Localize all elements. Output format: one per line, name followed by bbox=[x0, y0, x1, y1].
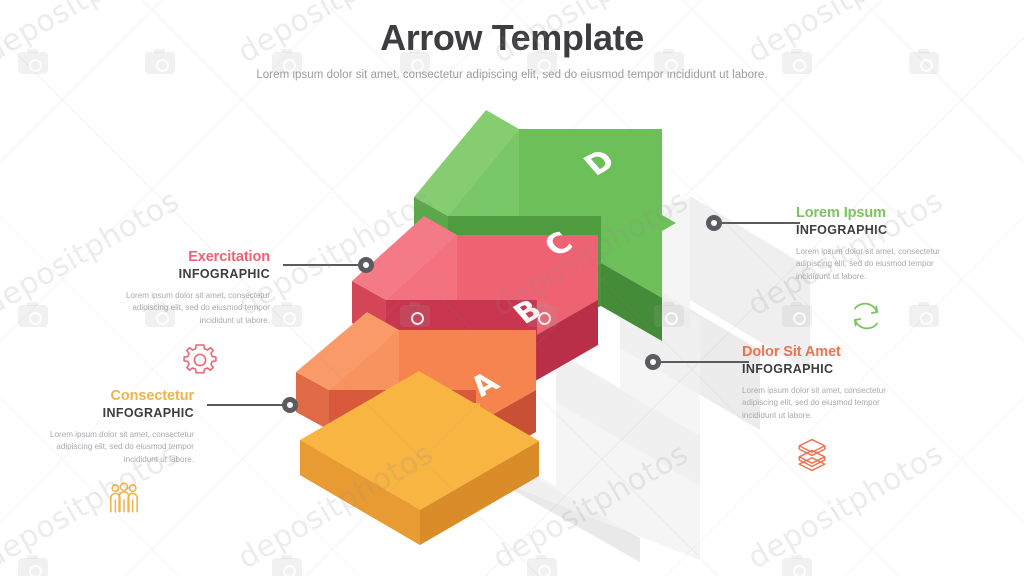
connector-line bbox=[661, 361, 749, 363]
callout-exercitation[interactable]: Exercitation INFOGRAPHIC Lorem ipsum dol… bbox=[40, 249, 270, 385]
callout-title: Consectetur bbox=[0, 388, 194, 405]
infographic-canvas: Arrow Template Lorem ipsum dolor sit ame… bbox=[0, 0, 1024, 576]
connector-consectetur bbox=[207, 396, 298, 414]
connector-exercitation bbox=[283, 256, 374, 274]
callout-title: Lorem Ipsum bbox=[796, 205, 1024, 222]
connector-dolor-sit-amet bbox=[645, 353, 749, 371]
connector-line bbox=[283, 264, 358, 266]
connector-marker[interactable] bbox=[282, 397, 298, 413]
callout-body: Lorem ipsum dolor sit amet, consectetur … bbox=[118, 290, 270, 328]
layers-stack-icon bbox=[790, 435, 834, 475]
people-group-icon bbox=[102, 479, 146, 519]
callout-subtitle: INFOGRAPHIC bbox=[796, 223, 1024, 237]
callout-title: Exercitation bbox=[40, 249, 270, 266]
connector-marker[interactable] bbox=[645, 354, 661, 370]
callout-subtitle: INFOGRAPHIC bbox=[40, 267, 270, 281]
callout-dolor-sit-amet[interactable]: Dolor Sit Amet INFOGRAPHIC Lorem ipsum d… bbox=[742, 344, 972, 480]
callout-subtitle: INFOGRAPHIC bbox=[742, 362, 972, 376]
connector-marker[interactable] bbox=[706, 215, 722, 231]
callout-body: Lorem ipsum dolor sit amet, consectetur … bbox=[742, 385, 894, 423]
callout-body: Lorem ipsum dolor sit amet, consectetur … bbox=[796, 246, 948, 284]
header: Arrow Template Lorem ipsum dolor sit ame… bbox=[0, 16, 1024, 81]
connector-line bbox=[722, 222, 800, 224]
callout-body: Lorem ipsum dolor sit amet, consectetur … bbox=[42, 429, 194, 467]
callout-subtitle: INFOGRAPHIC bbox=[0, 406, 194, 420]
connector-line bbox=[207, 404, 282, 406]
callout-title: Dolor Sit Amet bbox=[742, 344, 972, 361]
gear-icon bbox=[178, 340, 222, 380]
recycle-arrows-icon bbox=[844, 296, 888, 336]
page-title: Arrow Template bbox=[0, 16, 1024, 59]
page-subtitle: Lorem ipsum dolor sit amet, consectetur … bbox=[0, 69, 1024, 81]
connector-lorem-ipsum bbox=[706, 214, 800, 232]
callout-lorem-ipsum[interactable]: Lorem Ipsum INFOGRAPHIC Lorem ipsum dolo… bbox=[796, 205, 1024, 341]
connector-marker[interactable] bbox=[358, 257, 374, 273]
callout-consectetur[interactable]: Consectetur INFOGRAPHIC Lorem ipsum dolo… bbox=[0, 388, 194, 524]
